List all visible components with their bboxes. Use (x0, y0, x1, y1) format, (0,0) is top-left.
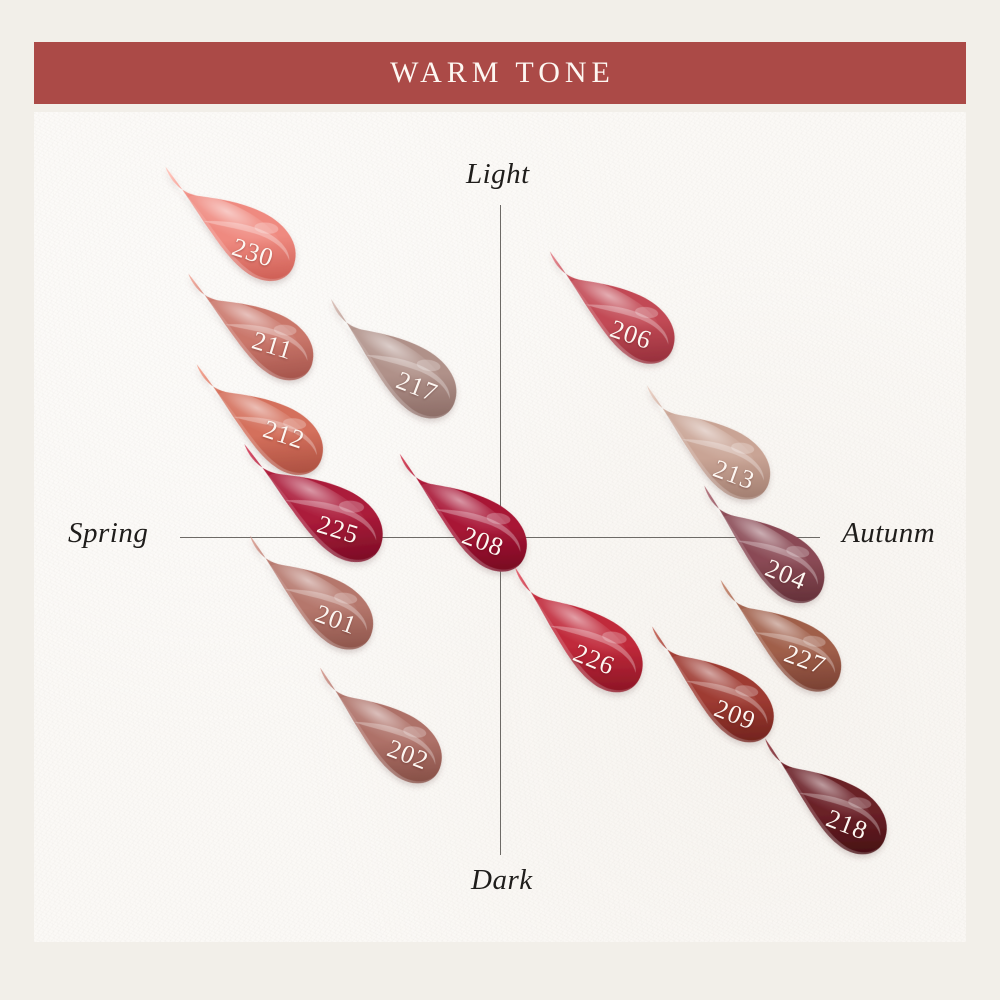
header-banner: WARM TONE (34, 42, 966, 104)
lipstick-swatch-202[interactable] (283, 661, 462, 806)
axis-label-autumn: Autunm (842, 517, 935, 550)
axis-label-dark: Dark (471, 864, 533, 897)
axis-label-spring: Spring (68, 517, 148, 550)
lipstick-swatch-218[interactable] (728, 732, 907, 877)
warm-tone-poster: WARM TONE Light Dark Spring Autunm (0, 0, 1000, 1000)
lipstick-swatch-206[interactable] (516, 245, 694, 386)
axis-label-light: Light (466, 158, 530, 191)
chart-canvas: Light Dark Spring Autunm (34, 112, 966, 942)
page-title: WARM TONE (385, 56, 615, 90)
